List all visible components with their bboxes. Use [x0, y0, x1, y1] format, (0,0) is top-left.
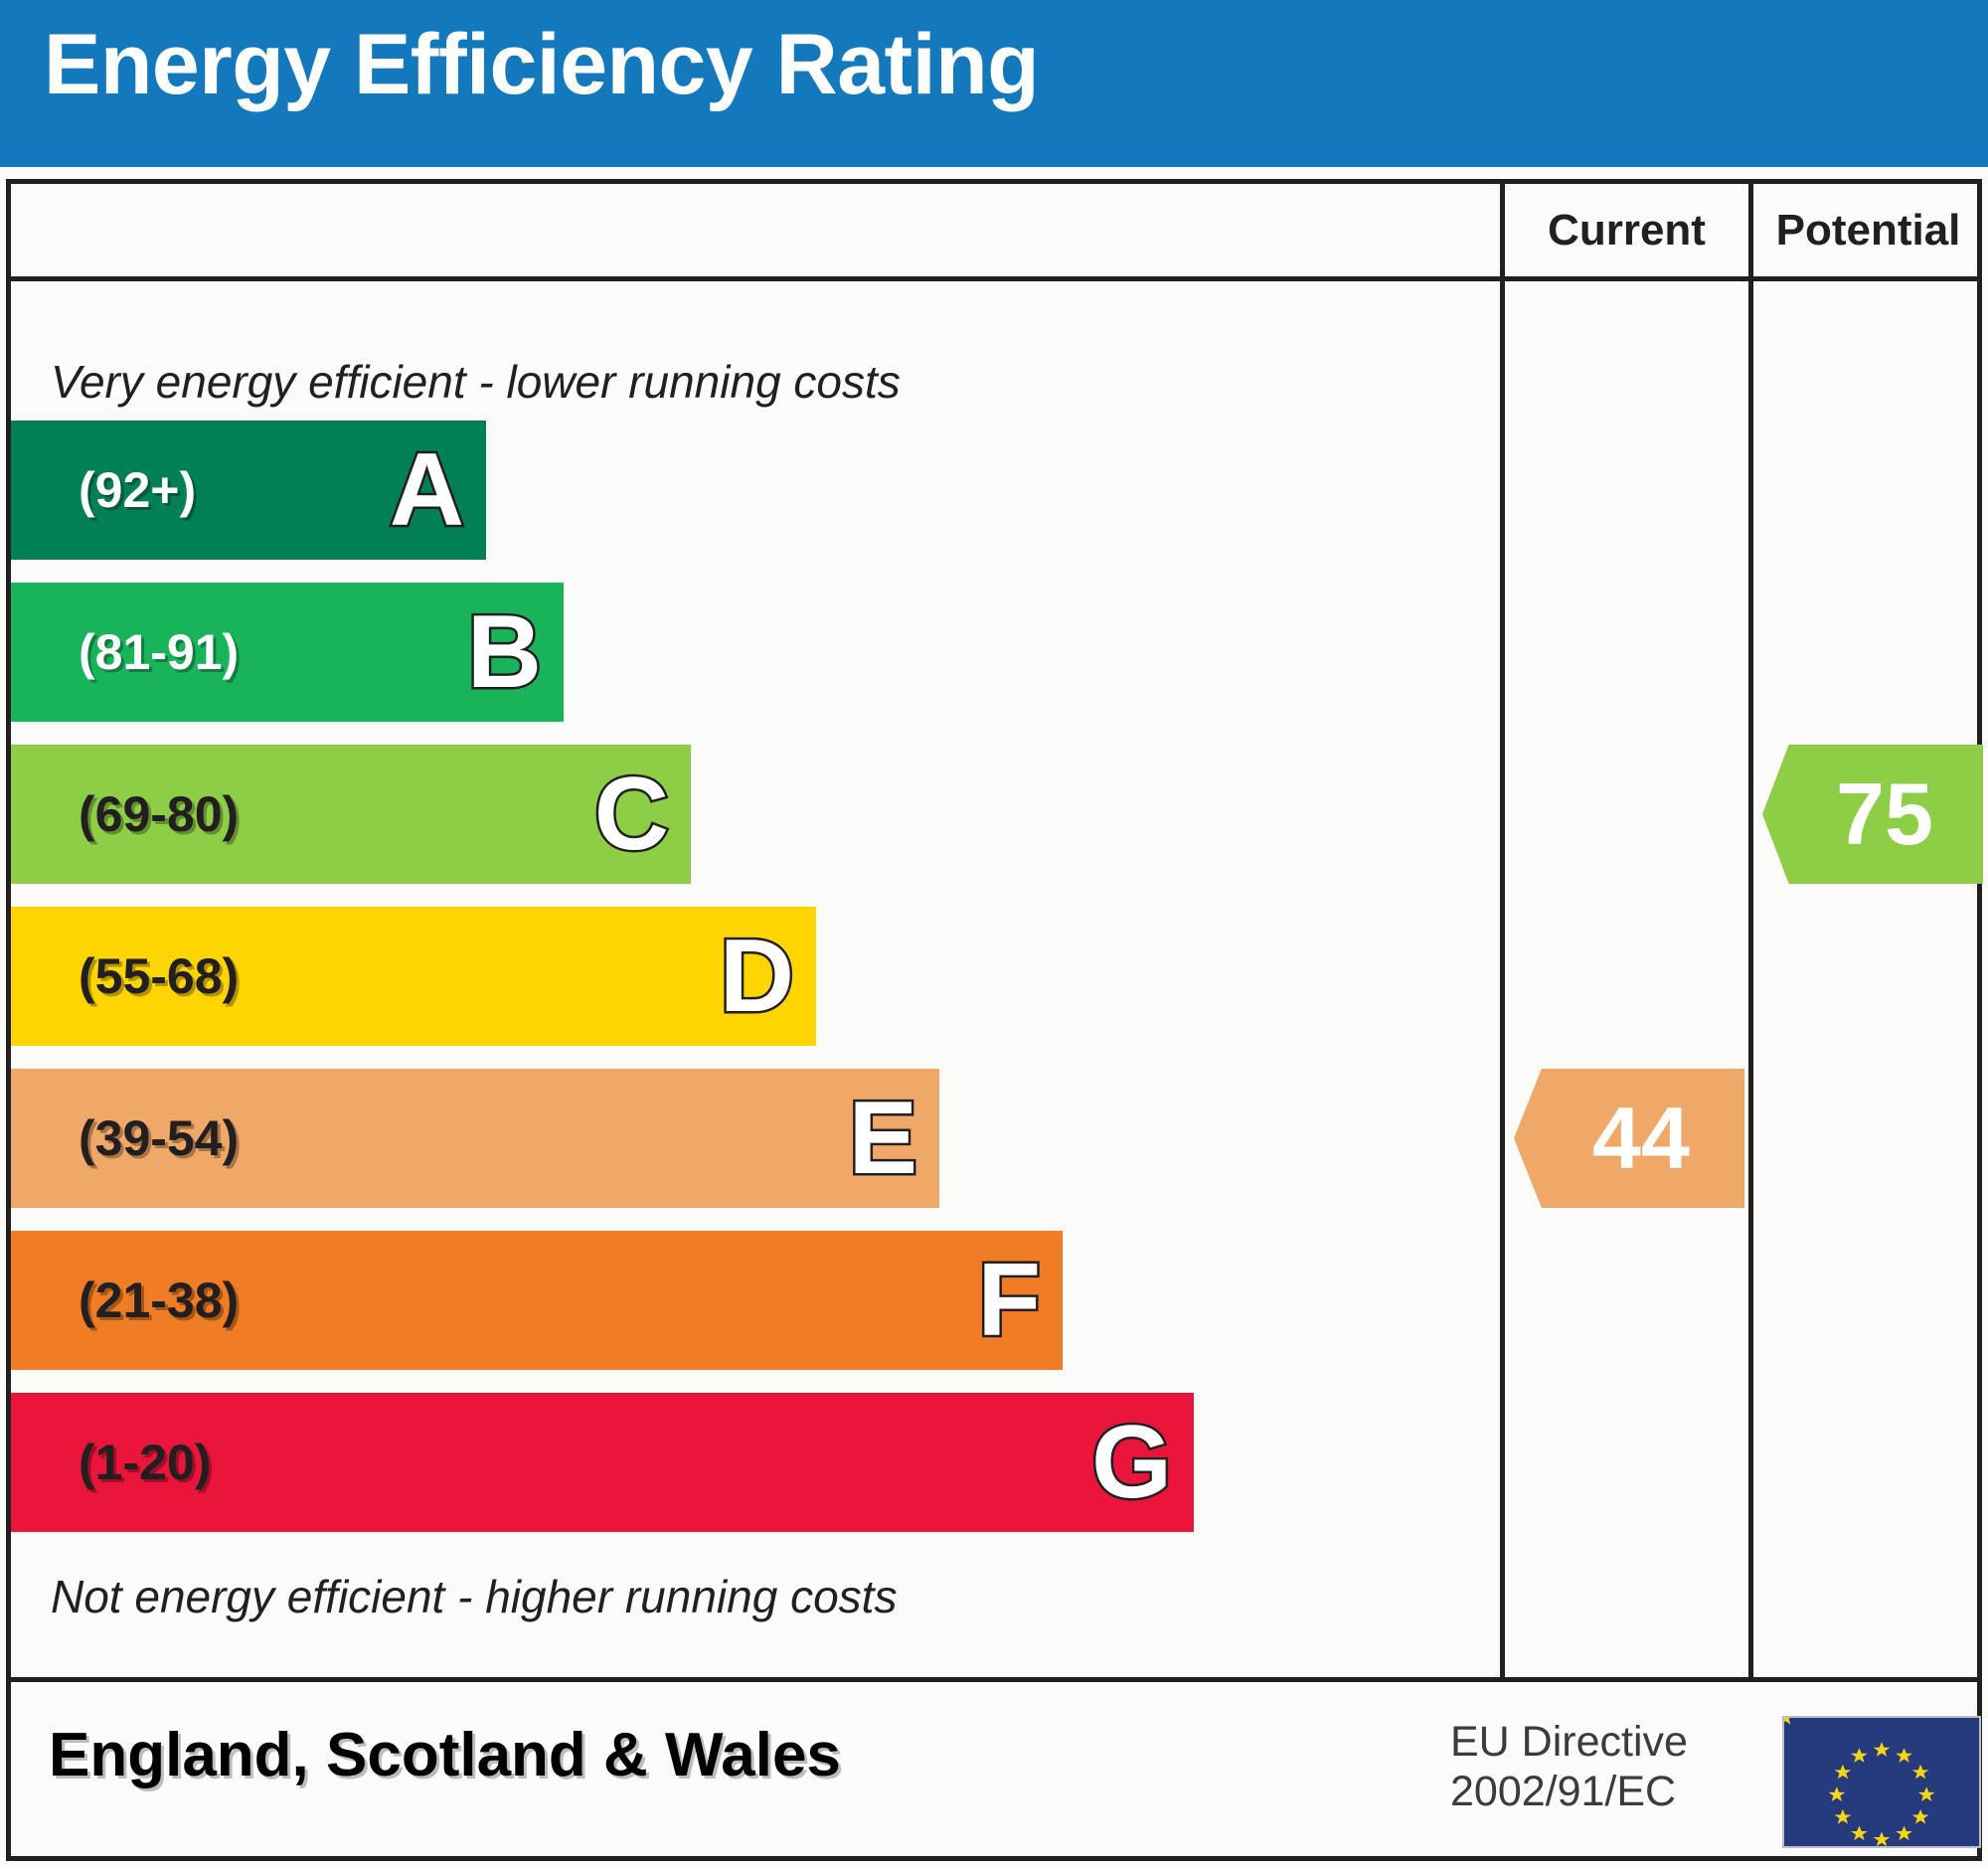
band-range-c: (69-80) — [79, 789, 239, 839]
band-range-a: (92+) — [79, 465, 196, 515]
eu-directive-line-1: EU Directive — [1450, 1718, 1688, 1768]
chart-header-banner: Energy Efficiency Rating — [0, 0, 1988, 167]
rating-bands: (92+)A(81-91)B(69-80)C(55-68)D(39-54)E(2… — [11, 421, 1497, 1554]
rating-table: Current Potential Very energy efficient … — [6, 179, 1982, 1682]
band-letter-d: D — [720, 925, 794, 1028]
rating-band-f: (21-38)F — [11, 1231, 1063, 1370]
eu-flag-icon — [1782, 1716, 1981, 1848]
rating-band-c: (69-80)C — [11, 745, 691, 884]
band-range-b: (81-91) — [79, 627, 239, 677]
current-rating-marker: 44 — [1514, 1069, 1744, 1208]
band-range-g: (1-20) — [79, 1438, 211, 1487]
column-header-current: Current — [1500, 184, 1748, 276]
band-range-e: (39-54) — [79, 1113, 239, 1163]
band-letter-a: A — [390, 438, 464, 542]
table-body: Very energy efficient - lower running co… — [11, 281, 1977, 1677]
energy-efficiency-rating-chart: Energy Efficiency Rating Current Potenti… — [0, 0, 1988, 1867]
band-letter-e: E — [849, 1087, 917, 1190]
band-range-d: (55-68) — [79, 951, 239, 1001]
column-divider-potential — [1748, 281, 1753, 1677]
band-letter-c: C — [594, 763, 669, 866]
rating-band-a: (92+)A — [11, 421, 486, 560]
rating-band-g: (1-20)G — [11, 1393, 1194, 1532]
rating-band-e: (39-54)E — [11, 1069, 939, 1208]
column-header-potential: Potential — [1748, 184, 1983, 276]
footer-eu-directive: EU Directive 2002/91/EC — [1450, 1718, 1688, 1817]
table-column-header-row: Current Potential — [11, 184, 1977, 281]
page-title: Energy Efficiency Rating — [44, 22, 1039, 107]
rating-band-b: (81-91)B — [11, 583, 564, 722]
caption-not-efficient: Not energy efficient - higher running co… — [51, 1574, 897, 1619]
rating-band-d: (55-68)D — [11, 907, 816, 1046]
band-range-f: (21-38) — [79, 1275, 239, 1325]
footer-region-label: England, Scotland & Wales — [49, 1722, 841, 1789]
caption-very-efficient: Very energy efficient - lower running co… — [51, 359, 901, 405]
band-letter-f: F — [977, 1249, 1041, 1352]
band-letter-b: B — [467, 600, 542, 704]
eu-directive-line-2: 2002/91/EC — [1450, 1768, 1688, 1817]
chart-footer: England, Scotland & Wales EU Directive 2… — [6, 1682, 1982, 1861]
column-divider-current — [1500, 281, 1505, 1677]
potential-rating-marker: 75 — [1762, 745, 1983, 884]
band-letter-g: G — [1091, 1411, 1172, 1514]
